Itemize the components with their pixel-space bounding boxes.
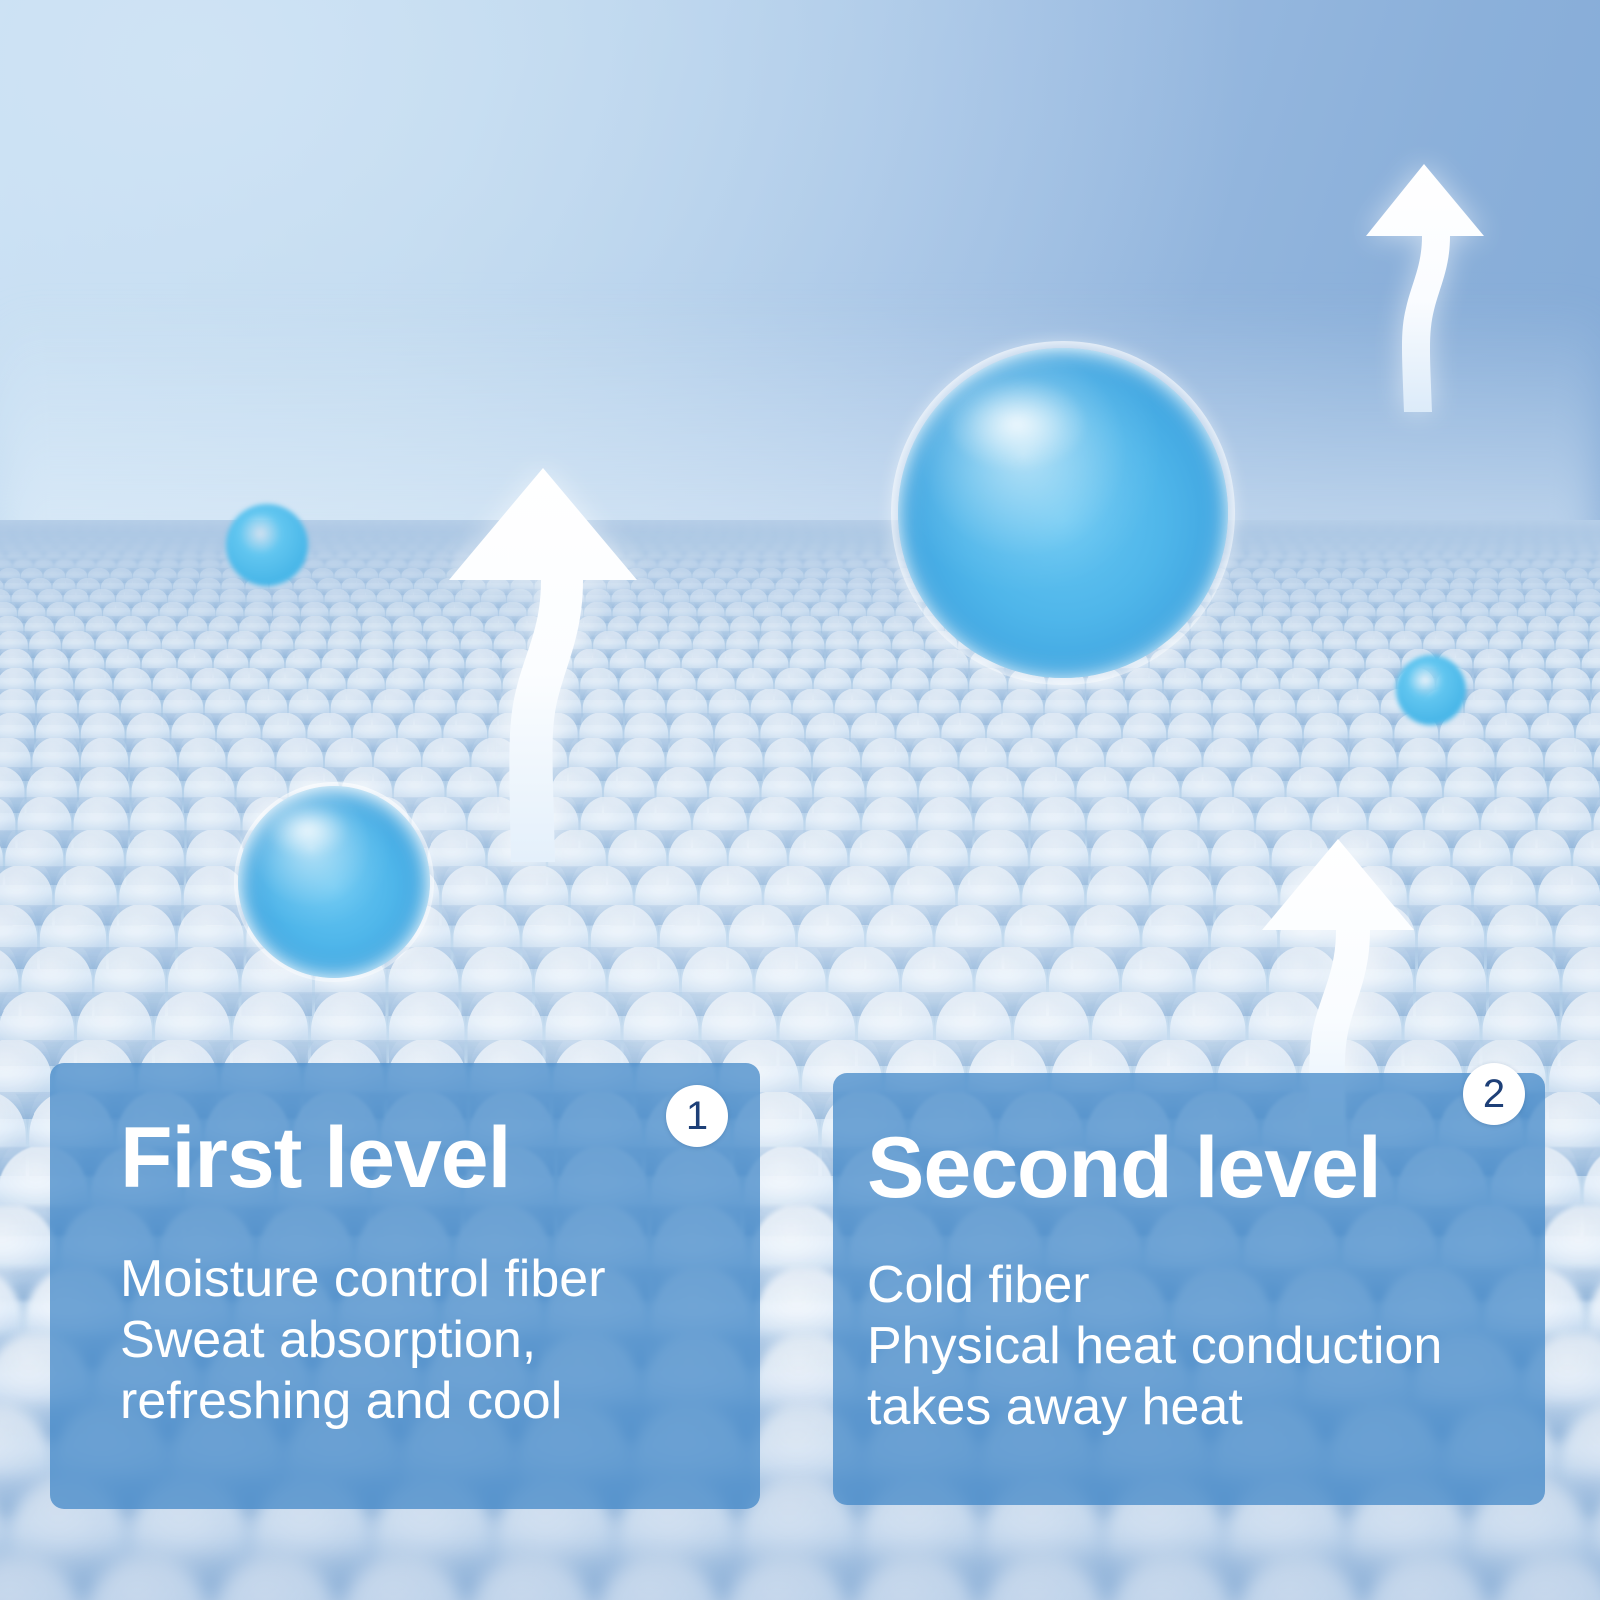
up-arrow-wavy-icon — [1358, 160, 1490, 412]
card-description: Moisture control fiber Sweat absorption,… — [120, 1249, 716, 1431]
status-badge: 1 — [666, 1085, 728, 1147]
card-description-line: Sweat absorption, — [120, 1310, 716, 1371]
card-title: First level — [120, 1115, 716, 1201]
up-arrow-wavy-icon — [437, 462, 649, 862]
info-card-first-level[interactable]: 1 First level Moisture control fiber Swe… — [50, 1063, 760, 1509]
water-bubble-icon — [898, 348, 1228, 678]
card-title: Second level — [867, 1125, 1501, 1211]
card-description-line: takes away heat — [867, 1377, 1501, 1438]
card-description: Cold fiber Physical heat conduction take… — [867, 1255, 1501, 1437]
card-description-line: Cold fiber — [867, 1255, 1501, 1316]
water-bubble-icon — [238, 786, 430, 978]
water-droplet-icon — [226, 504, 308, 586]
card-description-line: refreshing and cool — [120, 1371, 716, 1432]
status-badge: 2 — [1463, 1063, 1525, 1125]
water-droplet-icon — [1396, 655, 1466, 725]
infographic-canvas: 1 First level Moisture control fiber Swe… — [0, 0, 1600, 1600]
card-description-line: Moisture control fiber — [120, 1249, 716, 1310]
card-description-line: Physical heat conduction — [867, 1316, 1501, 1377]
info-card-second-level[interactable]: 2 Second level Cold fiber Physical heat … — [833, 1073, 1545, 1505]
